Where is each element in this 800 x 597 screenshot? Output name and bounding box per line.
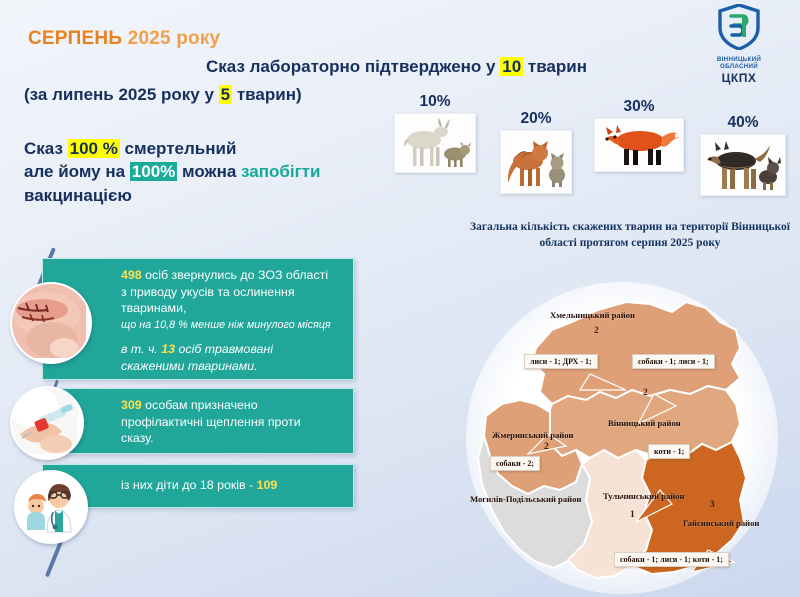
- callout-tulchyn[interactable]: коти - 1;: [648, 444, 690, 459]
- callout-khmelnytskyi[interactable]: лиси - 1; ДРХ - 1;: [524, 354, 598, 369]
- vaccination-line-2: профілактичні щеплення проти: [121, 414, 343, 431]
- district-count-zhmerynka: 2: [544, 442, 549, 452]
- vaccination-line-1: 309 особам призначено: [121, 397, 343, 414]
- shield-icon: [717, 4, 761, 50]
- previous-prefix: (за липень 2025 року у: [24, 85, 219, 104]
- children-count: 109: [257, 478, 278, 492]
- bites-line-2: з приводу укусів та ослинення тваринами,: [121, 284, 343, 317]
- goat-icon: [396, 116, 474, 172]
- dog-percent: 40%: [700, 114, 786, 132]
- animal-stat-goat: 10%: [394, 93, 476, 173]
- confirmed-suffix: тварин: [523, 57, 587, 76]
- bites-sub-suffix: осіб травмовані: [175, 342, 273, 356]
- goat-image: [394, 113, 476, 173]
- bites-sub-line-1: в т. ч. 13 осіб травмовані: [121, 341, 343, 358]
- bites-line1-text: осіб звернулись до ЗОЗ області: [142, 268, 328, 282]
- district-label-tulchyn: Тульчинський район: [603, 491, 685, 501]
- logo-line-2: ОБЛАСНИЙ: [696, 63, 782, 70]
- page-title: СЕРПЕНЬ 2025 року: [28, 28, 220, 50]
- district-label-zhmerynka: Жмеринський район: [492, 430, 574, 440]
- organization-logo: ВІННИЦЬКИЙ ОБЛАСНИЙ ЦКПХ: [696, 4, 782, 85]
- cat-image: [500, 130, 572, 194]
- dog-icon: [702, 137, 784, 195]
- prevent-prefix: але йому на: [24, 162, 130, 181]
- fox-icon: [596, 121, 682, 171]
- callout-vinnytsia[interactable]: собаки - 1; лиси - 1;: [632, 354, 715, 369]
- doctor-child-bubble: [14, 470, 88, 544]
- logo-line-1: ВІННИЦЬКИЙ: [696, 56, 782, 63]
- prevent-percent: 100%: [130, 162, 177, 181]
- cat-icon: [502, 133, 570, 193]
- fox-percent: 30%: [594, 98, 684, 116]
- previous-suffix: тварин): [232, 85, 302, 104]
- confirmed-prefix: Сказ лабораторно підтверджено у: [206, 57, 500, 76]
- district-label-vinnytsia: Вінницький район: [608, 418, 681, 428]
- syringe-photo-bubble: [10, 386, 84, 460]
- stat-card-children: із них діти до 18 років - 109: [42, 464, 354, 508]
- district-count-tulchyn: 1: [630, 510, 635, 520]
- wound-icon: [12, 284, 86, 358]
- bites-note: що на 10,8 % менше ніж минулого місяця: [121, 318, 343, 332]
- infographic-canvas: СЕРПЕНЬ 2025 року Сказ лабораторно підтв…: [0, 0, 800, 597]
- animal-stat-cat: 20%: [500, 110, 572, 194]
- fox-image: [594, 118, 684, 172]
- bites-sub-line-2: скаженими тваринами.: [121, 358, 343, 375]
- previous-count: 5: [219, 85, 232, 104]
- district-label-khmelnytskyi: Хмельницький район: [550, 310, 635, 320]
- district-count-haisyn: 3: [710, 500, 715, 510]
- lethal-suffix: смертельний: [120, 139, 237, 158]
- vaccination-line1-text: особам призначено: [142, 398, 258, 412]
- district-count-vinnytsia: 2: [643, 388, 648, 398]
- stat-card-vaccination: 309 особам призначено профілактичні щепл…: [42, 388, 354, 454]
- lethality-line-3: вакцинацією: [24, 184, 320, 207]
- goat-percent: 10%: [394, 93, 476, 111]
- bites-count: 498: [121, 268, 142, 282]
- dog-image: [700, 134, 786, 196]
- lethality-statement: Сказ 100 % смертельний але йому на 100% …: [24, 137, 320, 207]
- bites-sub-prefix: в т. ч.: [121, 342, 161, 356]
- lethality-line-2: але йому на 100% можна запобігти: [24, 160, 320, 183]
- lethal-percent: 100 %: [68, 139, 120, 158]
- callout-haisyn[interactable]: собаки - 1; лиси - 1; коти - 1;: [614, 552, 729, 567]
- lethality-line-1: Сказ 100 % смертельний: [24, 137, 320, 160]
- confirmed-count: 10: [500, 57, 523, 76]
- bites-line-1: 498 осіб звернулись до ЗОЗ області: [121, 267, 343, 284]
- year-label: 2025 року: [128, 28, 221, 49]
- month-label: СЕРПЕНЬ: [28, 28, 122, 49]
- logo-line-3: ЦКПХ: [696, 71, 782, 85]
- district-label-mohyliv-podilskyi: Могилів-Подільський район: [470, 494, 581, 504]
- district-count-khmelnytskyi: 2: [594, 326, 599, 336]
- animal-stat-dog: 40%: [700, 114, 786, 196]
- doctor-child-icon: [16, 472, 82, 538]
- map-container: Хмельницький район 2 Вінницький район 2 …: [440, 278, 800, 597]
- animal-stat-fox: 30%: [594, 98, 684, 172]
- cat-percent: 20%: [500, 110, 572, 128]
- map-title: Загальна кількість скажених тварин на те…: [470, 220, 790, 251]
- children-text: із них діти до 18 років - 109: [43, 465, 353, 502]
- lethal-prefix: Сказ: [24, 139, 68, 158]
- vaccination-count: 309: [121, 398, 142, 412]
- children-prefix: із них діти до 18 років -: [121, 478, 257, 492]
- vaccination-line-3: сказу.: [121, 430, 343, 447]
- prevent-word: запобігти: [241, 162, 320, 181]
- confirmed-animals-line: Сказ лабораторно підтверджено у 10 твари…: [206, 57, 587, 77]
- syringe-icon: [12, 388, 78, 454]
- previous-month-line: (за липень 2025 року у 5 тварин): [24, 85, 302, 105]
- bites-sub-count: 13: [161, 342, 175, 356]
- vaccination-text: 309 особам призначено профілактичні щепл…: [43, 389, 353, 455]
- wound-photo-bubble: [10, 282, 92, 364]
- callout-zhmerynka[interactable]: собаки - 2;: [490, 456, 540, 471]
- prevent-mid: можна: [177, 162, 241, 181]
- district-label-haisyn: Гайсинський район: [683, 518, 759, 528]
